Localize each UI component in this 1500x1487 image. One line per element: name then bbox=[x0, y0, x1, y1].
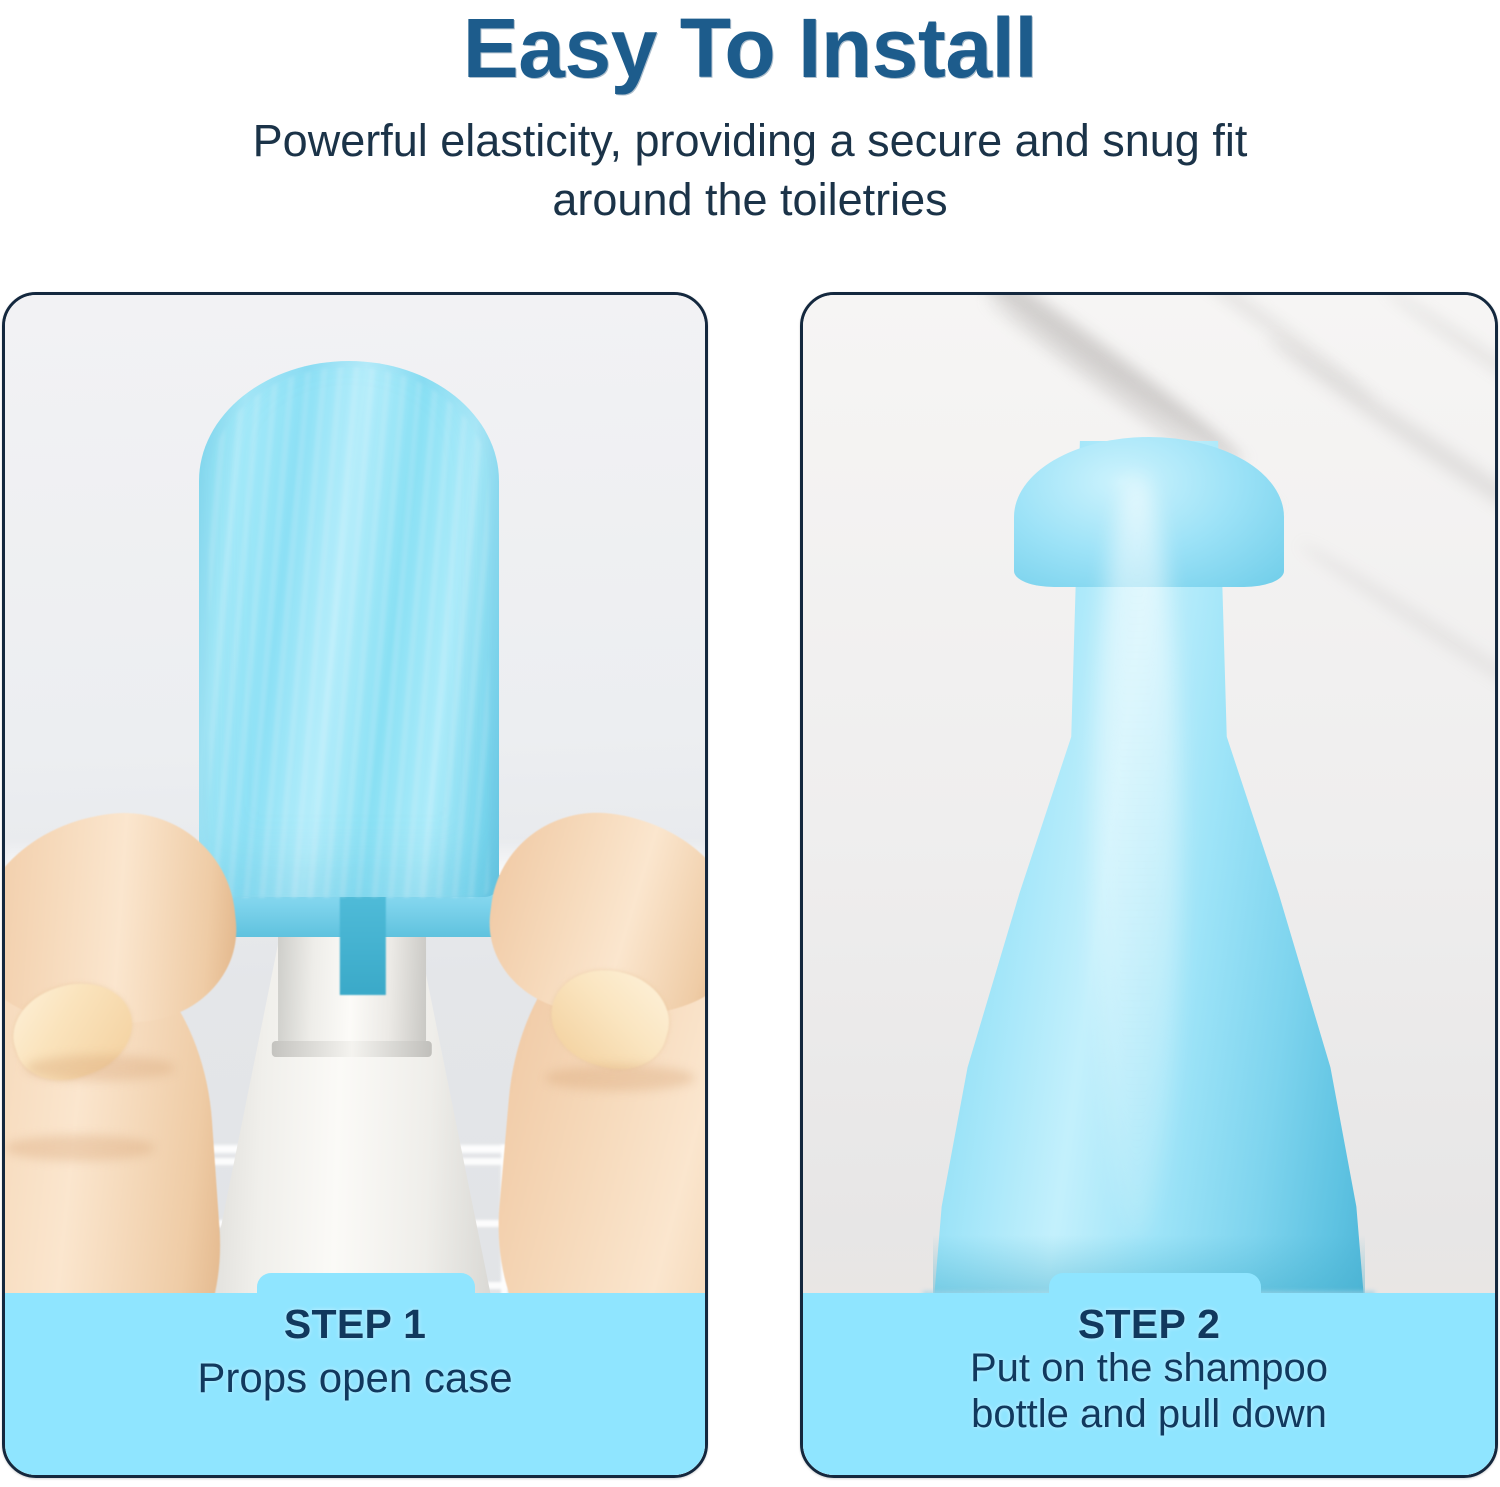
silicone-cap-highlight bbox=[1094, 475, 1180, 1235]
step-1-title: STEP 1 bbox=[5, 1301, 705, 1348]
infographic-root: Easy To Install Powerful elasticity, pro… bbox=[0, 0, 1500, 1487]
page-title: Easy To Install bbox=[0, 6, 1500, 90]
white-bottle-neck-lip bbox=[272, 1041, 432, 1057]
subtitle-line-2: around the toiletries bbox=[552, 174, 947, 225]
step-2-photo: STEP 2 Put on the shampoo bottle and pul… bbox=[803, 295, 1495, 1475]
step-2-panel: STEP 2 Put on the shampoo bottle and pul… bbox=[800, 292, 1498, 1478]
step-1-panel: STEP 1 Props open case bbox=[2, 292, 708, 1478]
header: Easy To Install Powerful elasticity, pro… bbox=[0, 0, 1500, 280]
step-1-label-band: STEP 1 Props open case bbox=[5, 1293, 705, 1475]
page-subtitle: Powerful elasticity, providing a secure … bbox=[0, 112, 1500, 229]
step-2-description-line-2: bottle and pull down bbox=[803, 1391, 1495, 1437]
silicone-cap-stretched bbox=[199, 361, 499, 897]
step-2-description-line-1: Put on the shampoo bbox=[803, 1345, 1495, 1391]
left-hand-knuckle-crease-2 bbox=[5, 1135, 155, 1161]
step-1-photo: STEP 1 Props open case bbox=[5, 295, 705, 1475]
step-2-title: STEP 2 bbox=[803, 1301, 1495, 1348]
step-2-band-tab bbox=[1049, 1273, 1261, 1297]
silicone-cap-skirt-fold bbox=[340, 895, 386, 995]
step-2-description: Put on the shampoo bottle and pull down bbox=[803, 1345, 1495, 1438]
step-1-description: Props open case bbox=[5, 1355, 705, 1401]
left-hand-knuckle-crease bbox=[25, 1055, 175, 1081]
step-2-label-band: STEP 2 Put on the shampoo bottle and pul… bbox=[803, 1293, 1495, 1475]
step-1-band-tab bbox=[257, 1273, 475, 1297]
subtitle-line-1: Powerful elasticity, providing a secure … bbox=[253, 115, 1248, 166]
right-hand-knuckle-crease bbox=[545, 1065, 695, 1091]
